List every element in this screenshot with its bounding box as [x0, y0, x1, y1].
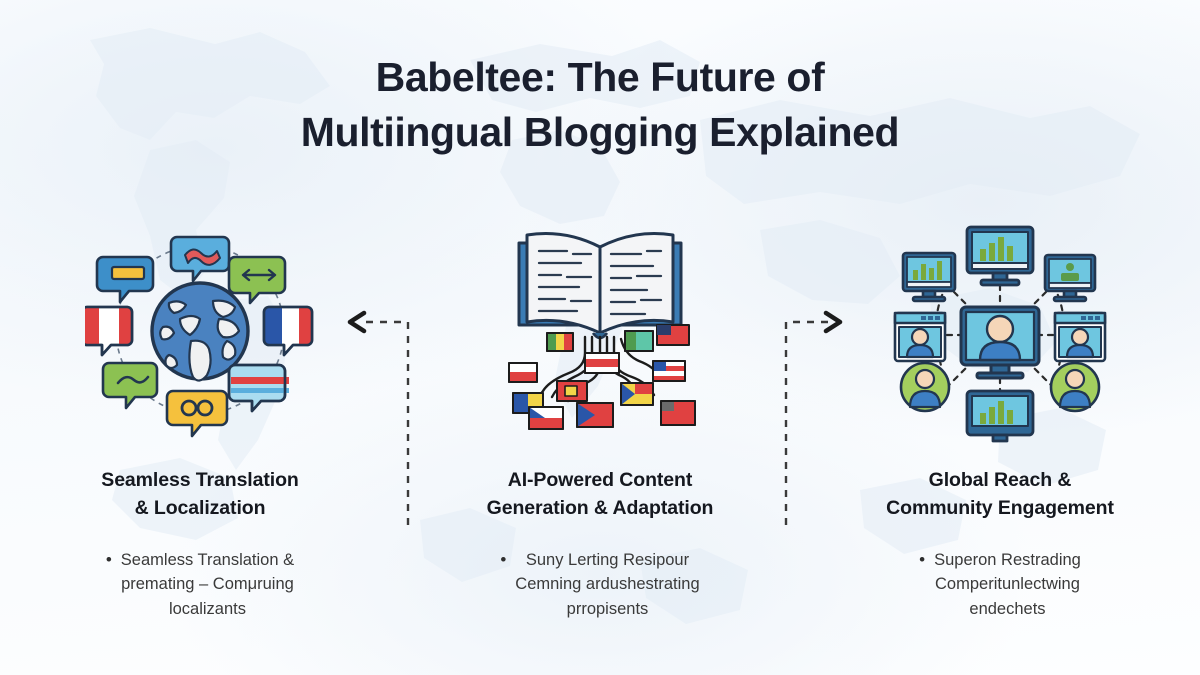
- bullet-line-1: Superon Restrading: [934, 551, 1081, 569]
- feature-column-translation: Seamless Translation & Localization • Se…: [0, 215, 400, 621]
- bullet-text: Seamless Translation & premating – Comμr…: [121, 548, 294, 620]
- globe-with-speech-bubbles-icon: [85, 215, 315, 445]
- bullet-line-1: Suny Lerting Resipour: [526, 551, 689, 569]
- feature-column-global-reach: Global Reach & Community Engagement • Su…: [800, 215, 1200, 621]
- bullet-line-2: Cemning ardushestrating: [515, 575, 699, 593]
- column-heading-translation: Seamless Translation & Localization: [101, 467, 298, 522]
- bullet-marker: •: [106, 548, 112, 573]
- heading-line-2: & Localization: [101, 495, 298, 523]
- global-network-of-users-icon: [885, 215, 1115, 445]
- feature-column-ai-content: AI-Powered Content Generation & Adaptati…: [400, 215, 800, 621]
- bullet-text: Suny Lerting Resipour Cemning ardushestr…: [515, 548, 699, 620]
- title-line-2: Multiingual Blogging Explained: [0, 105, 1200, 160]
- bullet-line-1: Seamless Translation &: [121, 551, 294, 569]
- bullet-marker: •: [500, 548, 506, 573]
- feature-columns: Seamless Translation & Localization • Se…: [0, 215, 1200, 621]
- bullet-text: Superon Restrading Comperitunlectwing en…: [934, 548, 1081, 620]
- heading-line-1: Global Reach &: [886, 467, 1114, 495]
- column-heading-ai-content: AI-Powered Content Generation & Adaptati…: [487, 467, 714, 522]
- heading-line-2: Community Engagement: [886, 495, 1114, 523]
- bullet-item: • Seamless Translation & premating – Com…: [106, 548, 294, 620]
- bullet-item: • Superon Restrading Comperitunlectwing …: [919, 548, 1081, 620]
- bullet-line-3: localizants: [169, 600, 246, 618]
- bullet-line-3: endechets: [969, 600, 1045, 618]
- bullet-line-3: prropisents: [567, 600, 649, 618]
- page-title: Babeltee: The Future of Multiingual Blog…: [0, 50, 1200, 159]
- bullet-line-2: Comperitunlectwing: [935, 575, 1080, 593]
- bullet-marker: •: [919, 548, 925, 573]
- heading-line-1: AI-Powered Content: [487, 467, 714, 495]
- bullet-line-2: premating – Comμruing: [121, 575, 294, 593]
- heading-line-1: Seamless Translation: [101, 467, 298, 495]
- title-line-1: Babeltee: The Future of: [0, 50, 1200, 105]
- infographic-slide: Babeltee: The Future of Multiingual Blog…: [0, 0, 1200, 675]
- open-book-with-flags-icon: [485, 215, 715, 445]
- column-heading-global-reach: Global Reach & Community Engagement: [886, 467, 1114, 522]
- bullet-item: • Suny Lerting Resipour Cemning ardushes…: [500, 548, 699, 620]
- heading-line-2: Generation & Adaptation: [487, 495, 714, 523]
